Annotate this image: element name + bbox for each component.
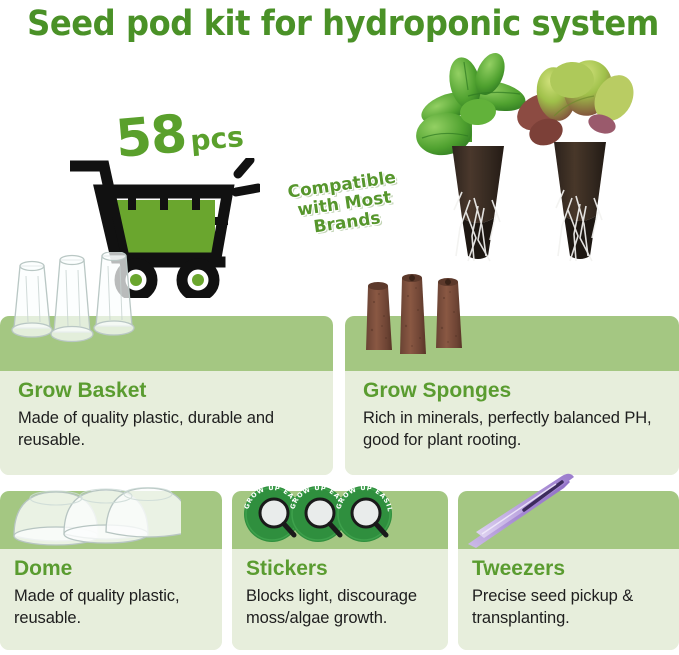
card-desc-tweezers: Precise seed pickup & transplanting. [472,586,672,630]
card-image-band [232,491,448,549]
card-desc-dome: Made of quality plastic, reusable. [14,586,216,630]
card-grow-sponges: Grow Sponges Rich in minerals, perfectly… [345,316,679,475]
hero-section: 58pcs [0,48,679,260]
infographic-canvas: Seed pod kit for hydroponic system 58pcs [0,0,679,655]
card-dome: Dome Made of quality plastic, reusable. [0,491,222,650]
card-title-tweezers: Tweezers [472,557,565,581]
quantity-badge: 58pcs [113,103,245,166]
card-title-dome: Dome [14,557,72,581]
page-title: Seed pod kit for hydroponic system [27,4,652,44]
card-image-band [0,491,222,549]
lettuce-plant [511,55,641,150]
card-image-band [0,316,333,371]
card-desc-grow-basket: Made of quality plastic, durable and reu… [18,408,324,452]
compatibility-badge: Compatible with Most Brands [274,167,416,242]
card-stickers: Stickers Blocks light, discourage moss/a… [232,491,448,650]
card-title-stickers: Stickers [246,557,328,581]
card-grow-basket: Grow Basket Made of quality plastic, dur… [0,316,333,475]
shopping-cart-icon [70,158,260,303]
card-title-grow-sponges: Grow Sponges [363,379,511,403]
card-image-band [458,491,679,549]
mint-plant [413,50,528,159]
card-desc-stickers: Blocks light, discourage moss/algae grow… [246,586,446,630]
quantity-unit: pcs [189,120,245,158]
card-tweezers: Tweezers Precise seed pickup & transplan… [458,491,679,650]
card-title-grow-basket: Grow Basket [18,379,146,403]
card-desc-grow-sponges: Rich in minerals, perfectly balanced PH,… [363,408,673,452]
card-image-band [345,316,679,371]
plants-photo [408,50,653,267]
